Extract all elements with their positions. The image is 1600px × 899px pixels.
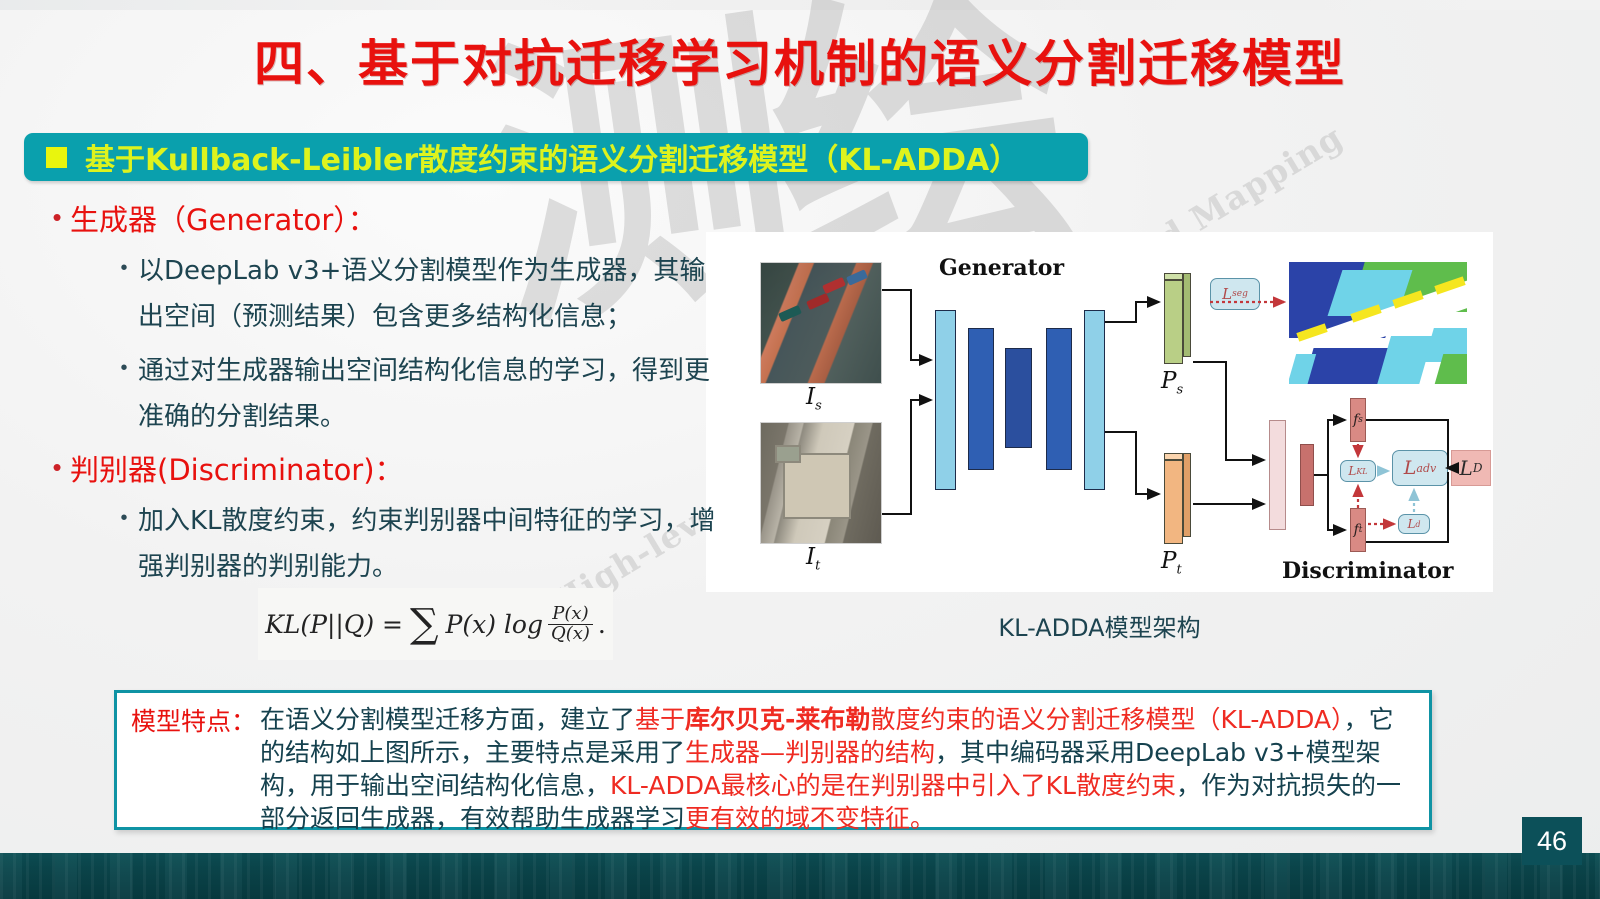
encoder-block-2: [968, 328, 994, 470]
generator-title: Generator: [939, 255, 1064, 281]
bullet-l2-discriminator-1-label: 加入KL散度约束，约束判别器中间特征的学习，增强判别器的判别能力。: [138, 498, 728, 590]
discriminator-block-2: [1300, 444, 1314, 506]
kl-loss-box: LKL: [1340, 460, 1376, 482]
discriminator-title: Discriminator: [1282, 558, 1453, 584]
page-number: 46: [1522, 817, 1582, 865]
summation-icon: ∑: [410, 601, 439, 647]
decoder-block-1: [1046, 328, 1072, 470]
formula-numerator: P(x): [549, 605, 591, 624]
formula-fraction: P(x) Q(x): [548, 605, 593, 644]
section-banner: 基于Kullback-Leibler散度约束的语义分割迁移模型（KL-ADDA）: [24, 133, 1088, 181]
top-edge-texture: [0, 0, 1600, 10]
note-seg-5: 生成器—判别器的结构: [685, 738, 935, 767]
section-banner-label: 基于Kullback-Leibler散度约束的语义分割迁移模型（KL-ADDA）: [85, 135, 1019, 179]
target-feature-box: ft: [1350, 508, 1366, 552]
car-icon: [778, 305, 802, 322]
note-seg-3: 散度约束的语义分割迁移模型（KL-ADDA）: [870, 705, 1343, 734]
formula-trailing: .: [598, 610, 606, 639]
architecture-figure: Is It Generator Ps: [706, 232, 1493, 592]
target-prediction-label: Pt: [1161, 548, 1182, 578]
prism-front-face: [1164, 280, 1183, 364]
formula-term: P(x) log: [446, 610, 543, 639]
car-icon: [822, 277, 846, 294]
prism-side-face: [1183, 453, 1191, 537]
sub-bullet-dot-icon: •: [110, 498, 138, 538]
bullet-l1-generator: 生成器（Generator）：: [70, 200, 377, 240]
car-icon: [806, 293, 830, 310]
sub-bullet-dot-icon: •: [110, 348, 138, 388]
bullet-l2-generator-1-label: 以DeepLab v3+语义分割模型作为生成器，其输出空间（预测结果）包含更多结…: [138, 248, 728, 340]
source-image-label: Is: [806, 384, 822, 414]
bullet-group-discriminator: • 判别器(Discriminator)：: [44, 450, 734, 490]
kl-formula: KL(P||Q) = ∑ P(x) log P(x) Q(x) .: [258, 588, 613, 660]
note-seg-9: 更有效的域不变特征。: [685, 804, 935, 833]
prism-top-face: [1164, 453, 1183, 460]
formula-lhs: KL(P||Q) =: [265, 610, 403, 639]
note-body: 在语义分割模型迁移方面，建立了基于库尔贝克-莱布勒散度约束的语义分割迁移模型（K…: [256, 703, 1417, 819]
page-title: 四、基于对抗迁移学习机制的语义分割迁移模型: [0, 24, 1600, 96]
source-prediction-label: Ps: [1161, 368, 1183, 398]
bullet-l2-generator-1: • 以DeepLab v3+语义分割模型作为生成器，其输出空间（预测结果）包含更…: [110, 248, 734, 340]
bullet-l2-discriminator-1: • 加入KL散度约束，约束判别器中间特征的学习，增强判别器的判别能力。: [110, 498, 734, 590]
adversarial-loss-box: Ladv: [1392, 450, 1448, 486]
decoder-block-2: [1084, 310, 1105, 490]
note-seg-2: 库尔贝克-莱布勒: [685, 705, 870, 734]
sub-bullet-dot-icon: •: [110, 248, 138, 288]
source-image: [760, 262, 882, 384]
note-seg-0: 在语义分割模型迁移方面，建立了: [260, 705, 635, 734]
bullet-group-generator: • 生成器（Generator）：: [44, 200, 734, 240]
source-feature-box: fs: [1350, 398, 1366, 442]
bullet-l2-generator-2: • 通过对生成器输出空间结构化信息的学习，得到更准确的分割结果。: [110, 348, 734, 440]
model-features-note: 模型特点： 在语义分割模型迁移方面，建立了基于库尔贝克-莱布勒散度约束的语义分割…: [114, 690, 1432, 830]
prism-side-face: [1183, 273, 1191, 357]
note-seg-7: KL-ADDA最核心的是在判别器中引入了KL散度约束: [610, 771, 1176, 800]
note-seg-1: 基于: [635, 705, 685, 734]
bottom-bar: [0, 853, 1600, 899]
target-image: [760, 422, 882, 544]
note-label: 模型特点：: [131, 703, 256, 819]
segmentation-output-map: [1289, 262, 1467, 384]
prism-top-face: [1164, 273, 1183, 280]
bullet-l1-discriminator: 判别器(Discriminator)：: [70, 450, 404, 490]
bullet-dot-icon: •: [44, 450, 70, 484]
bullet-l2-generator-2-label: 通过对生成器输出空间结构化信息的学习，得到更准确的分割结果。: [138, 348, 728, 440]
prism-front-face: [1164, 460, 1183, 544]
figure-caption: KL-ADDA模型架构: [706, 608, 1493, 643]
formula-denominator: Q(x): [548, 624, 593, 644]
bullet-list: • 生成器（Generator）： • 以DeepLab v3+语义分割模型作为…: [44, 196, 734, 590]
bullet-dot-icon: •: [44, 200, 70, 234]
kl-formula-expression: KL(P||Q) = ∑ P(x) log P(x) Q(x) .: [265, 601, 606, 647]
discriminator-sub-loss-box: Ld: [1398, 514, 1430, 534]
discriminator-loss-box: LD: [1451, 450, 1491, 486]
building-shape: [775, 445, 801, 463]
target-image-label: It: [806, 544, 820, 574]
segmentation-loss-box: Lseg: [1210, 278, 1260, 310]
bottleneck-block: [1005, 348, 1032, 448]
encoder-block-1: [935, 310, 956, 490]
car-icon: [846, 269, 868, 285]
square-bullet-icon: [46, 147, 67, 168]
discriminator-block-1: [1269, 420, 1286, 530]
slide-canvas: 测绘 High-level Lectures on Surveying and …: [0, 0, 1600, 899]
